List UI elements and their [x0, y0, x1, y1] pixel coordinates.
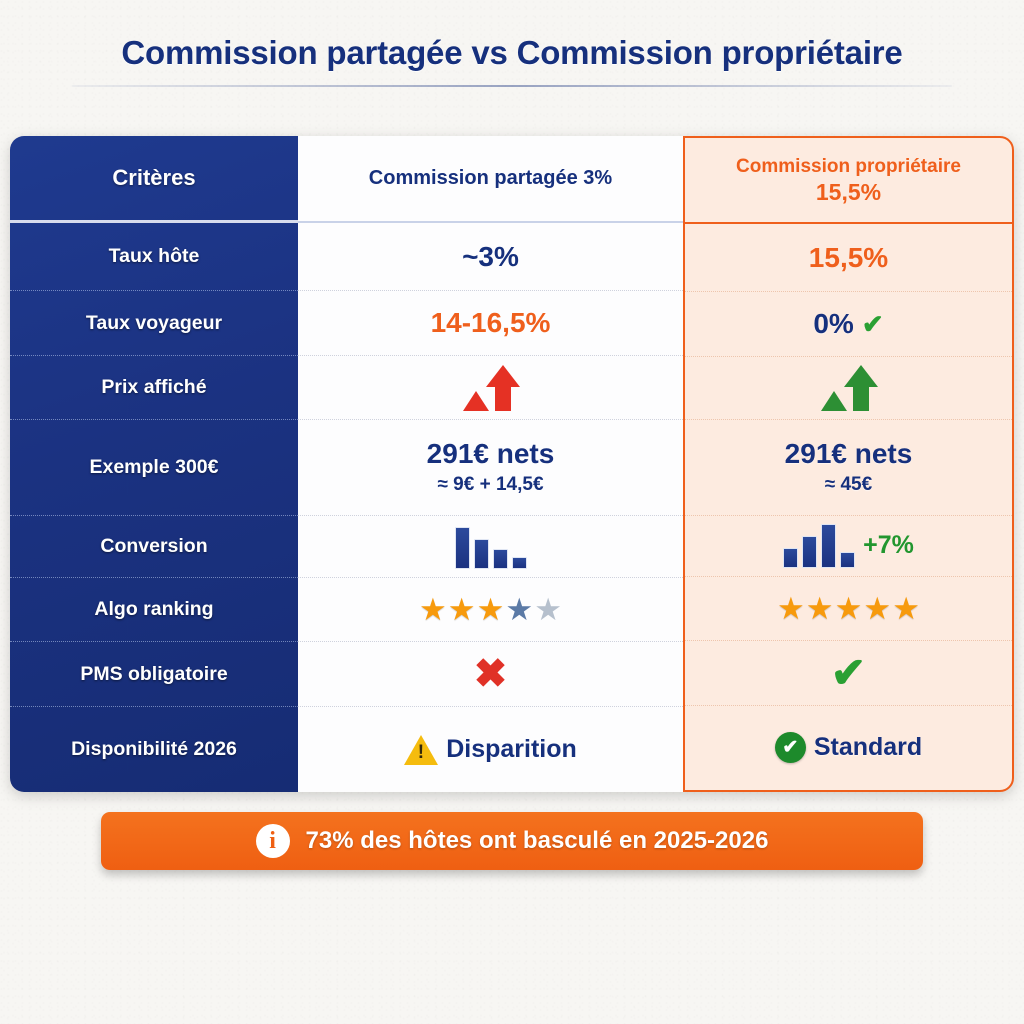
column-criteria: Critères Taux hôte Taux voyageur Prix af… [10, 136, 298, 792]
owner-cell-taux-voyageur: 0% ✔ [685, 292, 1012, 357]
check-icon: ✔ [862, 311, 884, 337]
header-owner-line1: Commission propriétaire [736, 155, 961, 178]
criteria-cell-prix-affiche: Prix affiché [10, 356, 298, 420]
owner-cell-conversion: +7% [685, 516, 1012, 578]
header-shared-commission: Commission partagée 3% [298, 136, 683, 223]
owner-value-taux-hote: 15,5% [809, 243, 888, 272]
criteria-cell-algo-ranking: Algo ranking [10, 578, 298, 642]
owner-value-disponibilite-2026: Standard [814, 733, 922, 762]
footer-banner-text: 73% des hôtes ont basculé en 2025-2026 [306, 827, 769, 855]
check-icon: ✔ [831, 652, 866, 694]
criteria-cell-conversion: Conversion [10, 516, 298, 578]
warning-triangle-icon [404, 735, 438, 765]
criteria-cell-taux-voyageur: Taux voyageur [10, 291, 298, 356]
comparison-table: Critères Taux hôte Taux voyageur Prix af… [10, 136, 1014, 792]
shared-value-exemple-300: 291€ nets [427, 439, 555, 468]
trend-up-icon [818, 365, 880, 411]
infographic-page: Commission partagée vs Commission propri… [0, 0, 1024, 1024]
column-shared-commission: Commission partagée 3% ~3% 14-16,5% 291€… [298, 136, 683, 792]
column-owner-commission: Commission propriétaire 15,5% 15,5% 0% ✔… [683, 136, 1014, 792]
criteria-cell-exemple-300: Exemple 300€ [10, 420, 298, 516]
header-criteria: Critères [10, 136, 298, 223]
check-circle-icon: ✔ [775, 732, 806, 763]
star-rating-icon: ★★★★★ [419, 594, 562, 625]
owner-subvalue-exemple-300: ≈ 45€ [825, 474, 872, 496]
owner-conversion-delta: +7% [863, 531, 914, 560]
shared-cell-disponibilite-2026: Disparition [298, 707, 683, 792]
star-rating-icon: ★★★★★ [777, 593, 920, 624]
cross-icon: ✖ [474, 654, 508, 694]
title-divider [72, 85, 952, 87]
bar-chart-ascending-icon [783, 524, 855, 568]
trend-up-icon [460, 365, 522, 411]
header-owner-line2: 15,5% [816, 178, 881, 206]
shared-cell-conversion [298, 516, 683, 578]
page-title: Commission partagée vs Commission propri… [0, 34, 1024, 72]
owner-cell-algo-ranking: ★★★★★ [685, 577, 1012, 641]
owner-cell-prix-affiche [685, 357, 1012, 421]
criteria-cell-disponibilite-2026: Disponibilité 2026 [10, 707, 298, 792]
owner-cell-exemple-300: 291€ nets ≈ 45€ [685, 420, 1012, 515]
shared-cell-taux-hote: ~3% [298, 223, 683, 291]
shared-cell-taux-voyageur: 14-16,5% [298, 291, 683, 356]
footer-banner: i 73% des hôtes ont basculé en 2025-2026 [101, 812, 923, 870]
owner-cell-disponibilite-2026: ✔ Standard [685, 706, 1012, 790]
owner-value-exemple-300: 291€ nets [785, 439, 913, 468]
shared-cell-pms-obligatoire: ✖ [298, 642, 683, 707]
shared-subvalue-exemple-300: ≈ 9€ + 14,5€ [437, 474, 543, 496]
info-icon: i [256, 824, 290, 858]
bar-chart-descending-icon [455, 525, 527, 569]
title-block: Commission partagée vs Commission propri… [0, 34, 1024, 87]
criteria-cell-taux-hote: Taux hôte [10, 223, 298, 291]
owner-value-taux-voyageur: 0% [813, 309, 853, 338]
shared-cell-prix-affiche [298, 356, 683, 420]
criteria-cell-pms-obligatoire: PMS obligatoire [10, 642, 298, 707]
header-owner-commission: Commission propriétaire 15,5% [685, 138, 1012, 224]
shared-value-taux-voyageur: 14-16,5% [431, 308, 551, 337]
shared-value-taux-hote: ~3% [462, 242, 519, 271]
shared-cell-exemple-300: 291€ nets ≈ 9€ + 14,5€ [298, 420, 683, 516]
shared-cell-algo-ranking: ★★★★★ [298, 578, 683, 642]
owner-cell-taux-hote: 15,5% [685, 224, 1012, 292]
owner-cell-pms-obligatoire: ✔ [685, 641, 1012, 706]
shared-value-disponibilite-2026: Disparition [446, 735, 577, 764]
